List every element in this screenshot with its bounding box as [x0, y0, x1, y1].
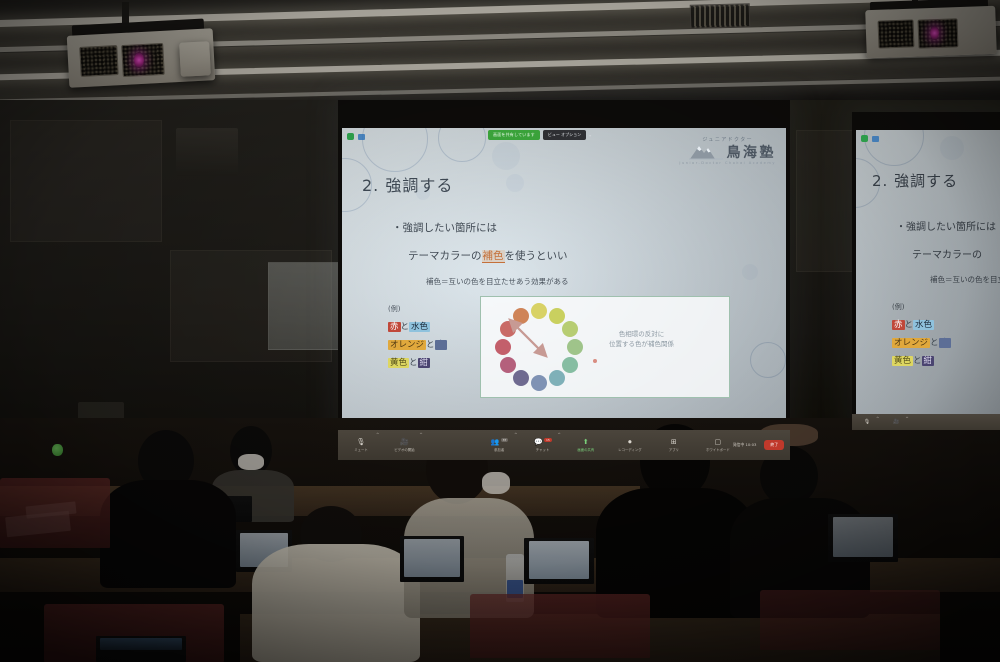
example-joiner: と [905, 320, 914, 330]
example-swatch-left: オレンジ [388, 340, 426, 350]
zoom-app-icon [872, 136, 879, 142]
chevron-up-icon[interactable]: ^ [558, 432, 561, 437]
slide-bullet-3: 補色＝互いの色を目立たせあう効果がある [426, 276, 569, 287]
example-joiner: と [426, 340, 435, 350]
wheel-note-line1: 色相環の反対に [609, 329, 674, 339]
camera-icon: 🎥 [400, 439, 409, 446]
zoom-record-button[interactable]: ⏺ レコーディング [615, 439, 645, 452]
decorative-bubble [438, 128, 486, 162]
academy-logo: ジュニアドクター 鳥海塾 Junior-Doctor Chokai Academ… [679, 136, 776, 165]
share-recording-label: 画面を共有しています [488, 130, 540, 140]
zoom-status-right: 発信中 10:03 [733, 442, 757, 448]
chevron-up-icon[interactable]: ^ [514, 432, 517, 437]
laptop [400, 536, 464, 582]
chevron-up-icon[interactable]: ^ [376, 432, 379, 437]
example-joiner: と [930, 338, 939, 348]
side-projection-screen: 2. 強調する ・強調したい箇所には テーマカラーの 補色＝互いの色を目立たせあ… [852, 112, 1000, 430]
projector-vent-grill [79, 45, 119, 77]
ceiling-vent [690, 3, 751, 29]
chevron-up-icon[interactable]: ^ [419, 432, 422, 437]
presentation-slide-side: 2. 強調する ・強調したい箇所には テーマカラーの 補色＝互いの色を目立たせあ… [856, 130, 1000, 415]
decorative-bubble [492, 142, 520, 170]
zoom-toolbar[interactable]: 🎙 ミュート ^ 🎥 ビデオの開始 ^ 👥37 参加者 ^ 💬15 チャット ^ [338, 430, 790, 460]
face-mask [238, 454, 264, 470]
zoom-window-corner-icons [347, 133, 365, 140]
example-swatch-left: 赤 [892, 320, 905, 330]
zoom-mute-button-side[interactable]: 🎙 [858, 420, 876, 425]
zoom-leave-button[interactable]: 終了 [764, 440, 784, 450]
ceiling-projector-right [862, 0, 1000, 72]
example-swatch-right: 紺 [418, 358, 431, 368]
projector-side-panel [179, 41, 211, 77]
zoom-mute-button[interactable]: 🎙 ミュート [346, 439, 376, 452]
laptop-screen [833, 517, 893, 557]
zoom-video-button[interactable]: 🎥 ビデオの開始 [389, 439, 419, 452]
logo-top-text: ジュニアドクター [679, 136, 776, 143]
example-pair-row-side: 黄色と紺 [892, 354, 934, 366]
green-plush-toy [52, 444, 63, 456]
example-pair-row: 赤と水色 [388, 320, 430, 332]
wheel-note-line2: 位置する色が補色関係 [609, 339, 674, 349]
bullet-2-post: を使うといい [505, 250, 568, 262]
example-joiner: と [913, 356, 922, 366]
wheel-accent-dot [593, 359, 597, 363]
example-swatch-left: 赤 [388, 322, 401, 332]
record-icon: ⏺ [628, 439, 632, 446]
chat-icon: 💬15 [534, 439, 551, 446]
mountain-icon [689, 143, 723, 160]
zoom-participants-label: 参加者 [494, 447, 504, 452]
zoom-chat-label: チャット [536, 447, 550, 452]
zoom-whiteboard-button[interactable]: ▢ ホワイトボード [703, 439, 733, 452]
zoom-share-banner: 画面を共有しています ビュー オプション ▾ [488, 130, 591, 140]
whiteboard [268, 262, 348, 350]
participants-count-badge: 37 [501, 438, 509, 442]
zoom-chat-button[interactable]: 💬15 チャット [528, 439, 558, 452]
laptop-screen [404, 539, 460, 577]
example-swatch-left: 黄色 [388, 358, 409, 368]
zoom-window-corner-icons [861, 135, 879, 142]
share-screen-icon: ⬆ [583, 439, 589, 446]
face-mask [482, 472, 510, 494]
color-wheel-panel: 色相環の反対に 位置する色が補色関係 [480, 296, 730, 398]
wall-mounted-speaker [176, 128, 238, 176]
zoom-participants-button[interactable]: 👥37 参加者 [484, 439, 514, 452]
lecture-hall-photo: 画面を共有しています ビュー オプション ▾ ジュニアドクター 鳥海塾 Juni… [0, 0, 1000, 662]
laptop-screen [100, 638, 182, 650]
projector-mount-arm [122, 2, 129, 24]
main-projection-screen: 画面を共有しています ビュー オプション ▾ ジュニアドクター 鳥海塾 Juni… [338, 100, 790, 460]
camera-icon: 🎥 [893, 420, 899, 425]
slide-bullet-2-side: テーマカラーの [912, 246, 982, 261]
laptop [96, 636, 186, 662]
zoom-toolbar-side[interactable]: 🎙 ^ 🎥 ^ [852, 414, 1000, 430]
microphone-icon: 🎙 [357, 439, 366, 446]
zoom-mute-label: ミュート [354, 447, 368, 452]
complementary-arrow-icon [481, 297, 729, 397]
zoom-apps-button[interactable]: ⊞ アプリ [659, 439, 689, 452]
person-torso [100, 480, 236, 588]
decorative-bubble [362, 128, 428, 172]
example-swatch-right: 紺 [922, 356, 935, 366]
whiteboard-icon: ▢ [715, 439, 722, 446]
example-pair-row-side: 赤と水色 [892, 318, 934, 330]
decorative-bubble [750, 342, 786, 378]
example-joiner: と [401, 322, 410, 332]
example-pair-row-side: オレンジと青 [892, 336, 951, 348]
slide-title-side: 2. 強調する [872, 170, 958, 191]
zoom-video-label: ビデオの開始 [394, 447, 414, 452]
example-pair-row: オレンジと青 [388, 338, 447, 350]
zoom-share-screen-button[interactable]: ⬆ 画面の共有 [571, 439, 601, 452]
person-hoodie-torso [252, 544, 420, 662]
projector-lens-glow [930, 26, 939, 40]
color-wheel-note: 色相環の反対に 位置する色が補色関係 [609, 329, 674, 349]
decorative-bubble [940, 136, 964, 160]
laptop-screen [529, 541, 589, 579]
laptop [524, 538, 594, 584]
example-swatch-right: 青 [435, 340, 448, 350]
chevron-up-icon[interactable]: ^ [905, 416, 908, 421]
slide-title: 2. 強調する [362, 172, 453, 196]
seat [760, 590, 940, 650]
chevron-up-icon[interactable]: ^ [876, 416, 879, 421]
seat [0, 478, 110, 548]
logo-sub-text: Junior-Doctor Chokai Academy [679, 161, 776, 165]
example-pair-row: 黄色と紺 [388, 356, 430, 368]
decorative-bubble [742, 264, 758, 280]
slide-bullet-2: テーマカラーの補色を使うといい [408, 248, 568, 263]
projector-vent-grill [878, 19, 915, 48]
example-swatch-right: 青 [939, 338, 952, 348]
example-label: (例) [388, 304, 400, 314]
example-label-side: (例) [892, 302, 904, 312]
example-swatch-right: 水色 [409, 322, 430, 332]
ceiling-projector-left [62, 20, 222, 112]
laptop [828, 514, 898, 562]
example-swatch-left: オレンジ [892, 338, 930, 348]
zoom-video-button-side[interactable]: 🎥 [887, 420, 905, 425]
slide-bullet-1-side: ・強調したい箇所には [896, 218, 996, 233]
view-options-button[interactable]: ビュー オプション [543, 130, 586, 140]
seat [470, 594, 650, 658]
zoom-security-icon [347, 133, 354, 140]
zoom-apps-label: アプリ [669, 447, 679, 452]
logo-name: 鳥海塾 [727, 146, 777, 160]
chat-unread-badge: 15 [544, 438, 552, 442]
projector-lens-glow [134, 52, 144, 68]
example-swatch-left: 黄色 [892, 356, 913, 366]
participants-icon: 👥37 [491, 439, 508, 446]
slide-bullet-1: ・強調したい箇所には [392, 220, 497, 235]
highlighted-term: 補色 [482, 250, 505, 263]
presentation-slide-main: 画面を共有しています ビュー オプション ▾ ジュニアドクター 鳥海塾 Juni… [342, 128, 786, 428]
decorative-bubble [506, 174, 524, 192]
chevron-down-icon[interactable]: ▾ [589, 133, 591, 138]
wall-panel [10, 120, 162, 242]
microphone-icon: 🎙 [864, 420, 870, 425]
bullet-2-pre: テーマカラーの [408, 250, 482, 262]
zoom-share-label: 画面の共有 [577, 447, 594, 452]
example-joiner: と [409, 358, 418, 368]
example-swatch-right: 水色 [913, 320, 934, 330]
zoom-security-icon [861, 135, 868, 142]
slide-bullet-3-side: 補色＝互いの色を目立たせあう効果がある [930, 274, 1000, 285]
zoom-app-icon [358, 134, 365, 140]
zoom-whiteboard-label: ホワイトボード [706, 447, 730, 452]
zoom-record-label: レコーディング [618, 447, 642, 452]
apps-grid-icon: ⊞ [671, 439, 677, 446]
